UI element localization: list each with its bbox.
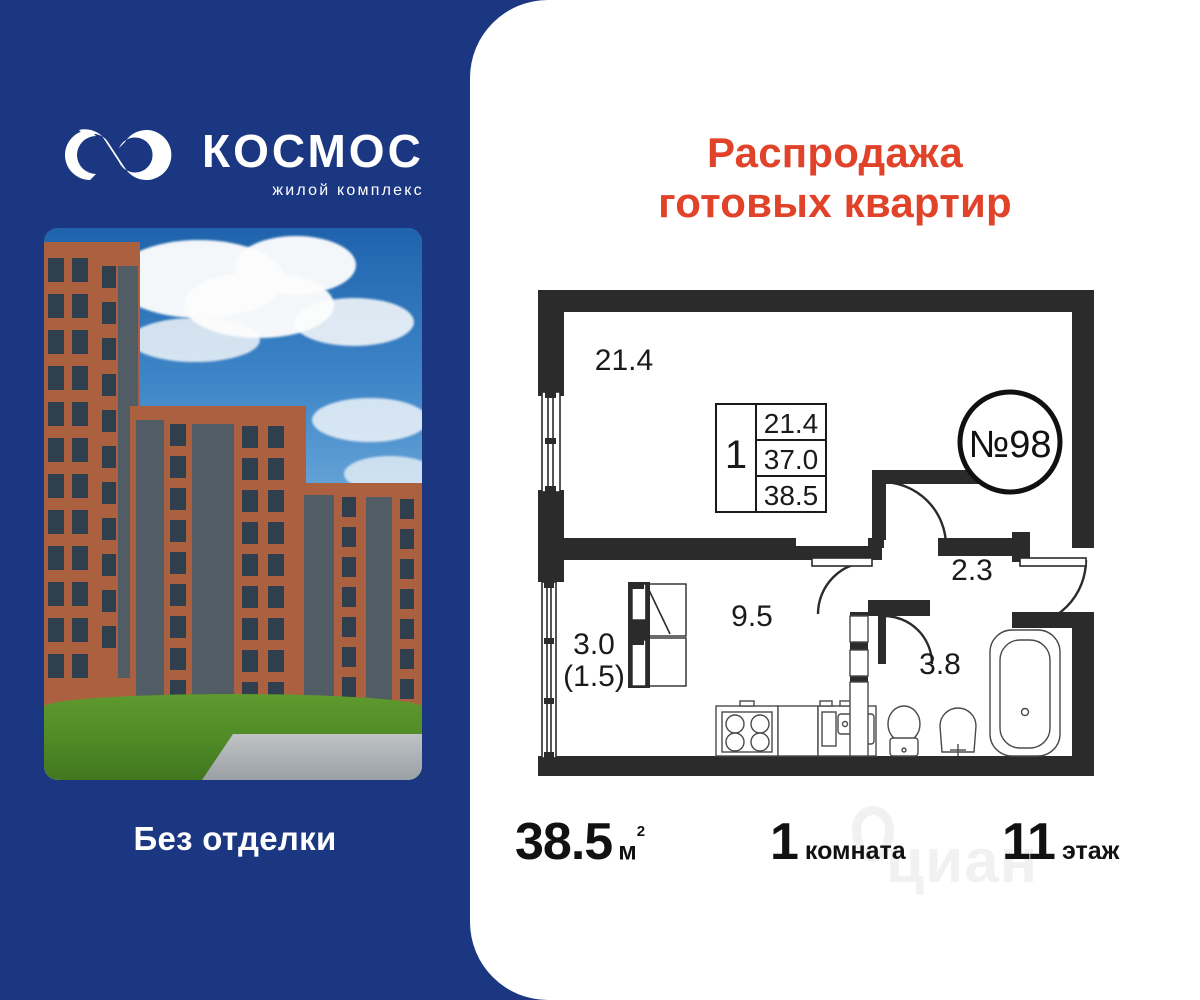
building-center xyxy=(130,406,306,708)
stat-floor: 11 этаж xyxy=(1002,812,1119,872)
promo-heading: Распродажа готовых квартир xyxy=(470,128,1200,227)
finish-caption: Без отделки xyxy=(0,820,470,858)
window-balcony xyxy=(542,582,556,758)
closet-icon xyxy=(850,616,868,756)
door-kitchen xyxy=(812,558,872,614)
info-total-area: 38.5 xyxy=(764,480,819,511)
plan-info-table: 1 21.4 37.0 38.5 xyxy=(716,404,826,512)
stat-floor-label: этаж xyxy=(1062,837,1119,866)
bathtub-icon xyxy=(990,630,1060,756)
infinity-loop-icon xyxy=(52,122,180,188)
window-living-room xyxy=(542,392,560,492)
promo-line-1: Распродажа xyxy=(470,128,1200,178)
building-photo xyxy=(44,228,422,780)
label-balcony-secondary: (1.5) xyxy=(563,660,625,693)
stat-floor-value: 11 xyxy=(1002,812,1055,872)
brand-subtitle: жилой комплекс xyxy=(202,182,424,200)
label-living-room: 21.4 xyxy=(595,344,653,377)
info-rooms: 1 xyxy=(725,433,747,477)
info-living-area: 21.4 xyxy=(764,408,819,439)
counter-icon xyxy=(778,706,818,756)
building-left xyxy=(44,242,140,708)
apartment-number-text: №98 xyxy=(968,424,1051,466)
road xyxy=(202,734,422,780)
label-balcony: 3.0 xyxy=(573,628,615,661)
info-area-no-balcony: 37.0 xyxy=(764,444,819,475)
promo-line-2: готовых квартир xyxy=(470,178,1200,228)
label-hallway: 2.3 xyxy=(951,554,993,587)
washbasin-icon xyxy=(940,708,976,756)
stove-icon xyxy=(716,701,778,756)
stat-area-value: 38.5 xyxy=(515,812,612,872)
label-bathroom: 3.8 xyxy=(919,648,961,681)
stat-area: 38.5 м2 xyxy=(515,812,645,872)
brand-title: КОСМОС xyxy=(202,128,424,174)
apartment-stats: 38.5 м2 1 комната 11 этаж xyxy=(470,812,1200,892)
sidebar: КОСМОС жилой комплекс xyxy=(0,0,470,1000)
stat-rooms: 1 комната xyxy=(770,812,906,872)
door-living-room xyxy=(878,478,946,546)
content-card: Распродажа готовых квартир xyxy=(470,0,1200,1000)
stat-rooms-label: комната xyxy=(805,837,906,866)
stat-area-unit: м2 xyxy=(618,837,645,866)
brand-logo: КОСМОС жилой комплекс xyxy=(52,122,424,200)
stat-rooms-value: 1 xyxy=(770,812,798,872)
floor-plan: 1 21.4 37.0 38.5 №98 21.4 9.5 2.3 3.8 3.… xyxy=(520,282,1140,782)
apartment-number-badge: №98 xyxy=(960,392,1060,492)
label-kitchen: 9.5 xyxy=(731,600,773,633)
building-right xyxy=(296,483,422,708)
toilet-icon xyxy=(888,706,920,756)
